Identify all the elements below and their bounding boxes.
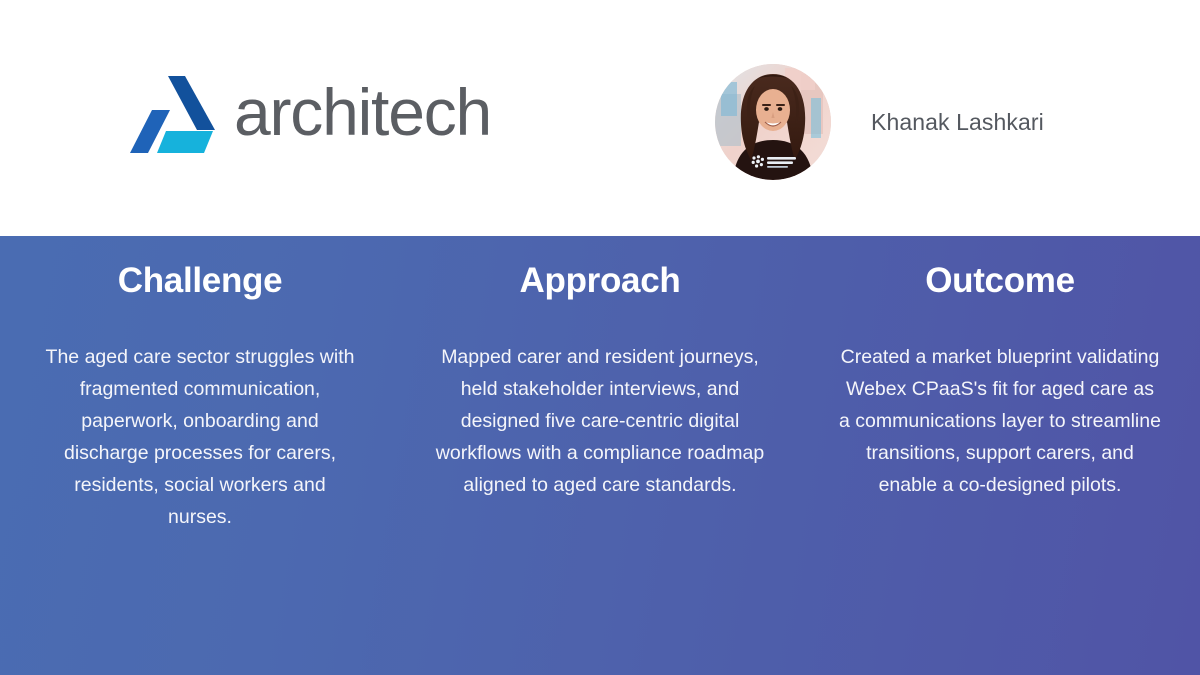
brand-lockup: architech (130, 74, 491, 156)
brand-wordmark: architech (234, 79, 491, 151)
column-heading-approach: Approach (426, 262, 774, 301)
column-approach: Approach Mapped carer and resident journ… (400, 262, 800, 501)
avatar (715, 64, 831, 180)
column-heading-outcome: Outcome (826, 262, 1174, 301)
header-band: architech (0, 0, 1200, 236)
column-body-challenge: The aged care sector struggles with frag… (40, 341, 360, 534)
body-panel: Challenge The aged care sector struggles… (0, 236, 1200, 675)
column-body-approach: Mapped carer and resident journeys, held… (435, 341, 765, 502)
column-challenge: Challenge The aged care sector struggles… (0, 262, 400, 534)
presenter-name: Khanak Lashkari (871, 109, 1044, 136)
column-body-outcome: Created a market blueprint validating We… (839, 341, 1161, 502)
architech-logo-icon (130, 74, 216, 156)
slide-root: architech (0, 0, 1200, 675)
columns-container: Challenge The aged care sector struggles… (0, 236, 1200, 534)
column-heading-challenge: Challenge (26, 262, 374, 301)
presenter-block: Khanak Lashkari (715, 64, 1044, 180)
column-outcome: Outcome Created a market blueprint valid… (800, 262, 1200, 501)
